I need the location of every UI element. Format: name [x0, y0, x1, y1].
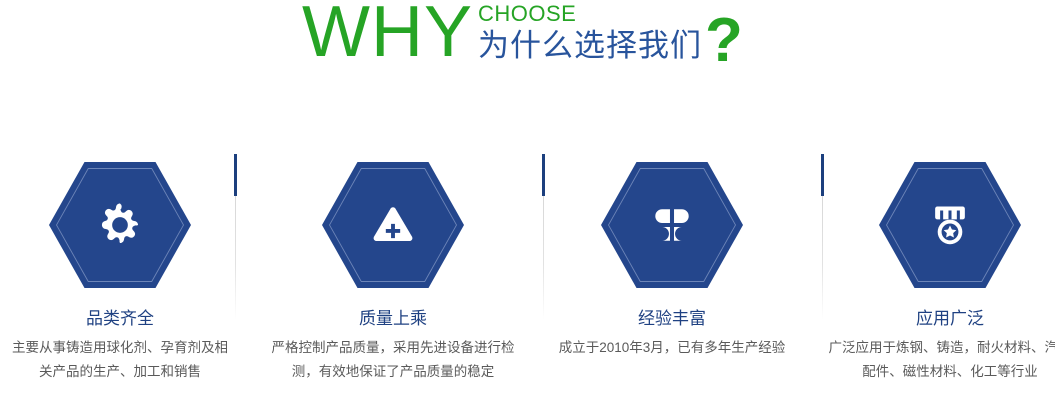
- feature-card-experience[interactable]: 经验丰富 成立于2010年3月，已有多年生产经验: [537, 140, 807, 416]
- feature-card-product-range[interactable]: 品类齐全 主要从事铸造用球化剂、孕育剂及相关产品的生产、加工和销售: [0, 140, 255, 416]
- heading-why: WHY: [302, 0, 473, 68]
- divider-stem: [543, 196, 544, 320]
- divider-cap: [542, 154, 545, 196]
- feature-card-description: 主要从事铸造用球化剂、孕育剂及相关产品的生产、加工和销售: [7, 336, 233, 384]
- feature-card-description: 严格控制产品质量，采用先进设备进行检测，有效地保证了产品质量的稳定: [270, 336, 516, 384]
- feature-card-quality[interactable]: 质量上乘 严格控制产品质量，采用先进设备进行检测，有效地保证了产品质量的稳定: [258, 140, 528, 416]
- heading-question-mark: ?: [705, 10, 743, 72]
- hexagon-badge: [322, 162, 464, 288]
- hexagon-badge: [879, 162, 1021, 288]
- card-divider-3: [821, 140, 824, 416]
- card-divider-2: [542, 140, 545, 416]
- gear-icon: [93, 198, 147, 252]
- feature-card-title: 质量上乘: [258, 308, 528, 330]
- medal-icon: [923, 198, 977, 252]
- section-header: WHY CHOOSE 为什么选择我们 ?: [0, 0, 1055, 95]
- feature-card-applications[interactable]: 应用广泛 广泛应用于炼钢、铸造，耐火材料、汽车配件、磁性材料、化工等行业: [815, 140, 1055, 416]
- divider-cap: [821, 154, 824, 196]
- why-choose-us-section: WHY CHOOSE 为什么选择我们 ? 品类齐全 主要从事铸造用球化剂、孕育剂…: [0, 0, 1055, 416]
- card-divider-1: [234, 140, 237, 416]
- divider-stem: [235, 196, 236, 320]
- feature-card-title: 应用广泛: [815, 308, 1055, 330]
- section-header-inner: WHY CHOOSE 为什么选择我们 ?: [300, 0, 760, 80]
- triangle-plus-icon: [366, 198, 420, 252]
- feature-card-description: 成立于2010年3月，已有多年生产经验: [549, 336, 795, 360]
- feature-card-title: 品类齐全: [0, 308, 255, 330]
- divider-cap: [234, 154, 237, 196]
- hexagon-badge: [49, 162, 191, 288]
- feature-cards: 品类齐全 主要从事铸造用球化剂、孕育剂及相关产品的生产、加工和销售 质量上乘 严…: [0, 140, 1055, 416]
- heading-subtitle-cn: 为什么选择我们: [478, 28, 702, 64]
- hexagon-badge: [601, 162, 743, 288]
- feature-card-description: 广泛应用于炼钢、铸造，耐火材料、汽车配件、磁性材料、化工等行业: [827, 336, 1055, 384]
- heading-choose: CHOOSE: [478, 2, 576, 26]
- divider-stem: [822, 196, 823, 320]
- four-petal-clover-icon: [645, 198, 699, 252]
- feature-card-title: 经验丰富: [537, 308, 807, 330]
